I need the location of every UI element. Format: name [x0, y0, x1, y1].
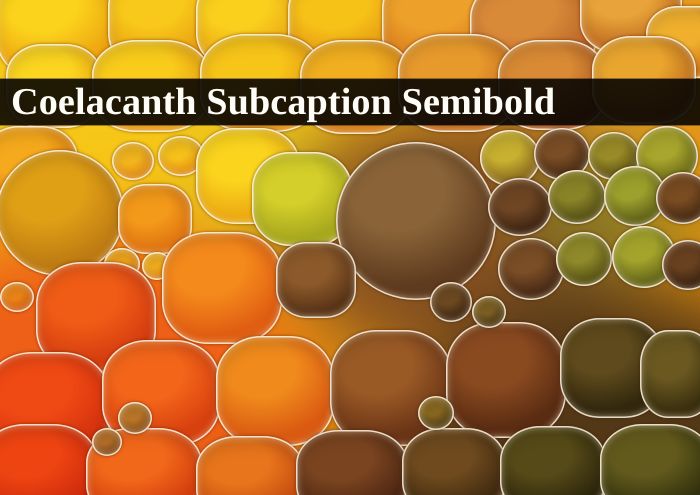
bubble-cell	[430, 282, 472, 322]
bubble-cell	[480, 130, 540, 186]
bubble-cell	[548, 170, 606, 224]
bubble-cell	[162, 232, 282, 344]
bubble-cell	[216, 336, 334, 446]
bubble-cell	[402, 428, 506, 495]
bubble-cell	[498, 238, 564, 300]
font-specimen-image: Coelacanth Subcaption Semibold	[0, 0, 700, 495]
bubble-cell	[446, 322, 566, 438]
bubble-cell	[500, 426, 606, 495]
bubble-cell	[640, 330, 700, 418]
bubble-cell	[418, 396, 454, 430]
caption-banner: Coelacanth Subcaption Semibold	[0, 79, 700, 125]
bubble-cell	[112, 142, 154, 180]
bubble-cell	[92, 428, 122, 456]
font-name-caption: Coelacanth Subcaption Semibold	[0, 83, 555, 121]
bubble-cell	[488, 178, 552, 236]
bubble-cell	[296, 430, 408, 495]
bubble-cell	[0, 282, 34, 312]
bubble-cell	[336, 142, 496, 300]
bubble-cell	[0, 424, 98, 495]
bubble-cell	[472, 296, 506, 328]
bubble-cell	[118, 402, 152, 434]
bubble-cell	[556, 232, 612, 286]
bubble-cell	[600, 424, 700, 495]
bubble-photograph-background	[0, 0, 700, 495]
bubble-cell	[276, 242, 356, 318]
bubble-cell	[196, 436, 304, 495]
